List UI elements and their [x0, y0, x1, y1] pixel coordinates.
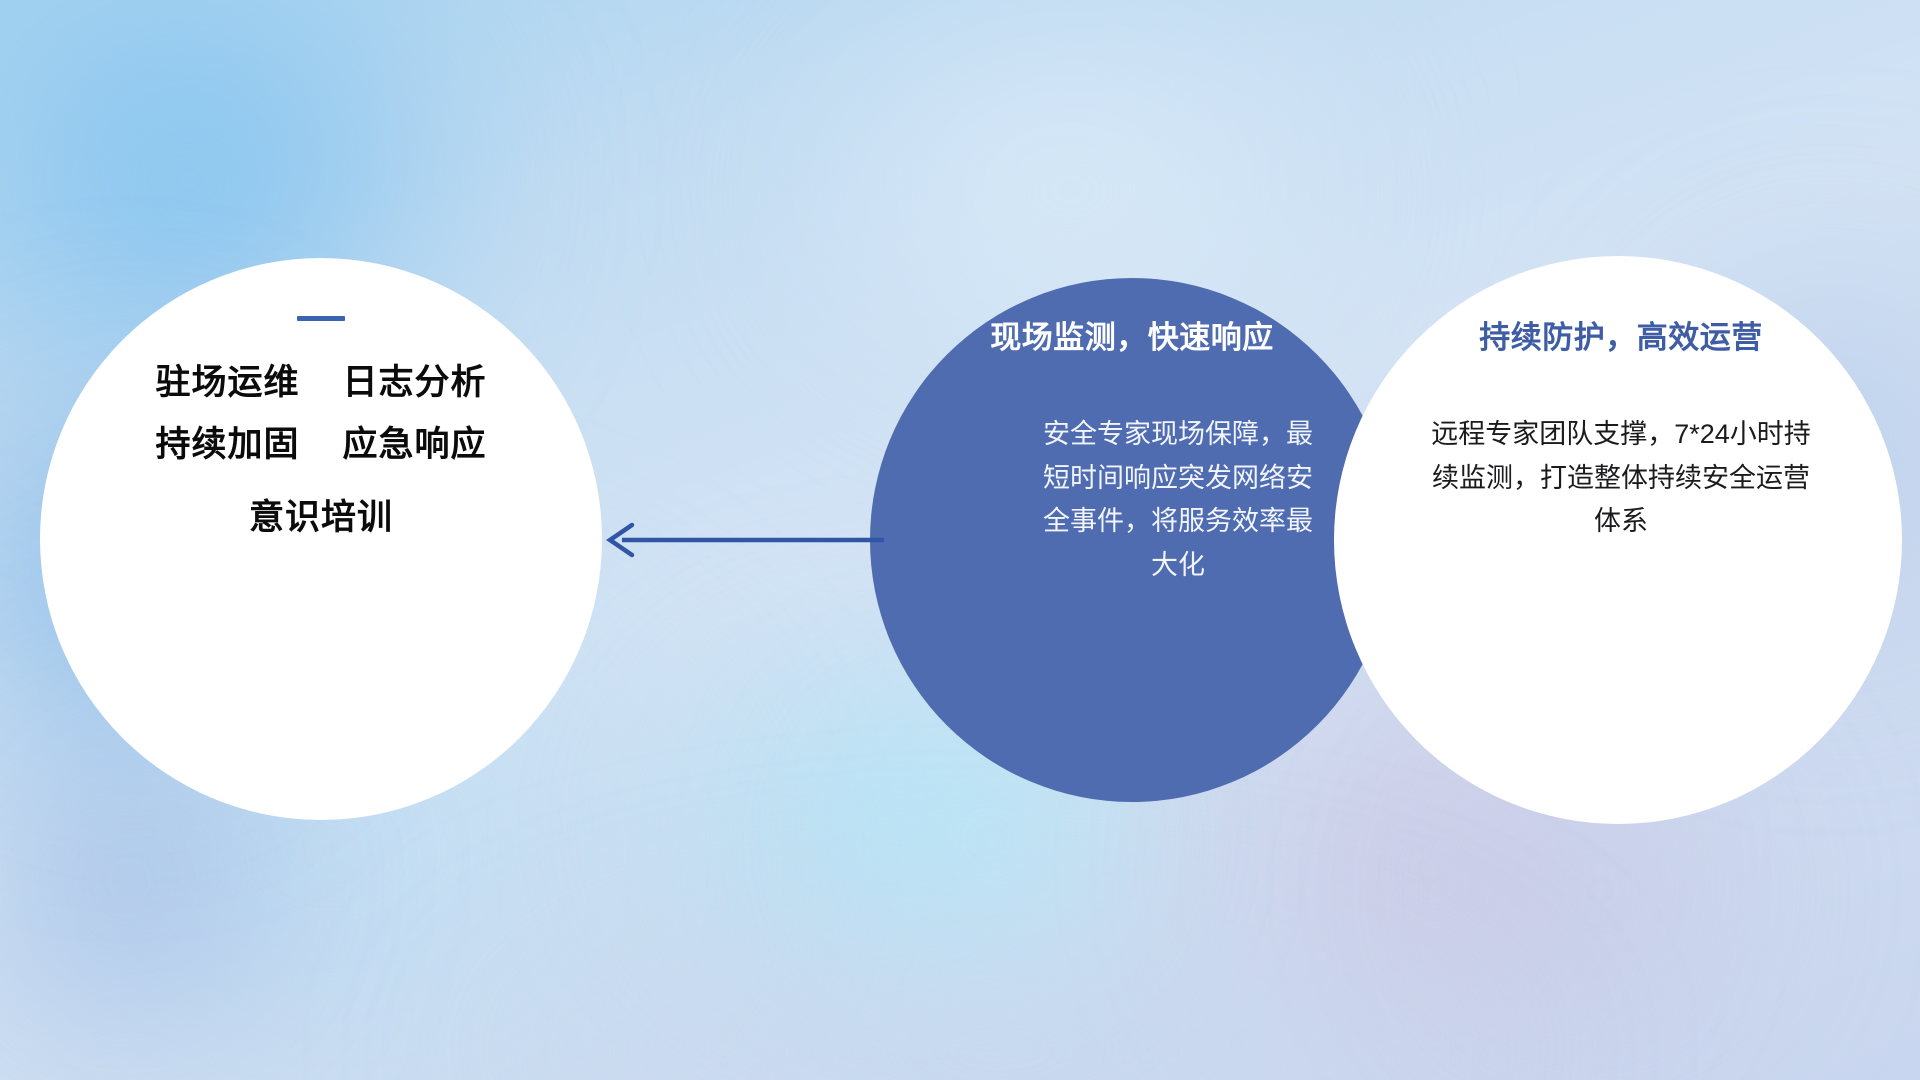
left-keyword-line-1: 驻场运维 日志分析 — [156, 365, 487, 400]
continuous-protection-body: 远程专家团队支撑，7*24小时持续监测，打造整体持续安全运营体系 — [1426, 413, 1816, 544]
onsite-monitoring-title: 现场监测，快速响应 — [990, 312, 1274, 357]
left-circle-content: 驻场运维 日志分析 持续加固 应急响应 意识培训 — [40, 258, 602, 820]
onsite-monitoring-body: 安全专家现场保障，最短时间响应突发网络安全事件，将服务效率最大化 — [1031, 413, 1326, 588]
left-keyword-line-3: 意识培训 — [249, 500, 393, 535]
slide-canvas: 驻场运维 日志分析 持续加固 应急响应 意识培训 现场监测，快速响应 安全专家现… — [0, 0, 1920, 1080]
left-keyword-line-2: 持续加固 应急响应 — [156, 427, 487, 462]
continuous-protection-circle: 持续防护，高效运营 远程专家团队支撑，7*24小时持续监测，打造整体持续安全运营… — [1334, 256, 1902, 824]
onsite-monitoring-circle: 现场监测，快速响应 安全专家现场保障，最短时间响应突发网络安全事件，将服务效率最… — [870, 278, 1394, 802]
arrow-left-icon — [596, 516, 886, 564]
accent-dash-divider — [297, 316, 345, 321]
right-circle-content: 持续防护，高效运营 远程专家团队支撑，7*24小时持续监测，打造整体持续安全运营… — [1334, 256, 1902, 824]
left-keywords-circle: 驻场运维 日志分析 持续加固 应急响应 意识培训 — [40, 258, 602, 820]
continuous-protection-title: 持续防护，高效运营 — [1479, 312, 1763, 357]
blue-circle-content: 现场监测，快速响应 安全专家现场保障，最短时间响应突发网络安全事件，将服务效率最… — [870, 278, 1394, 802]
